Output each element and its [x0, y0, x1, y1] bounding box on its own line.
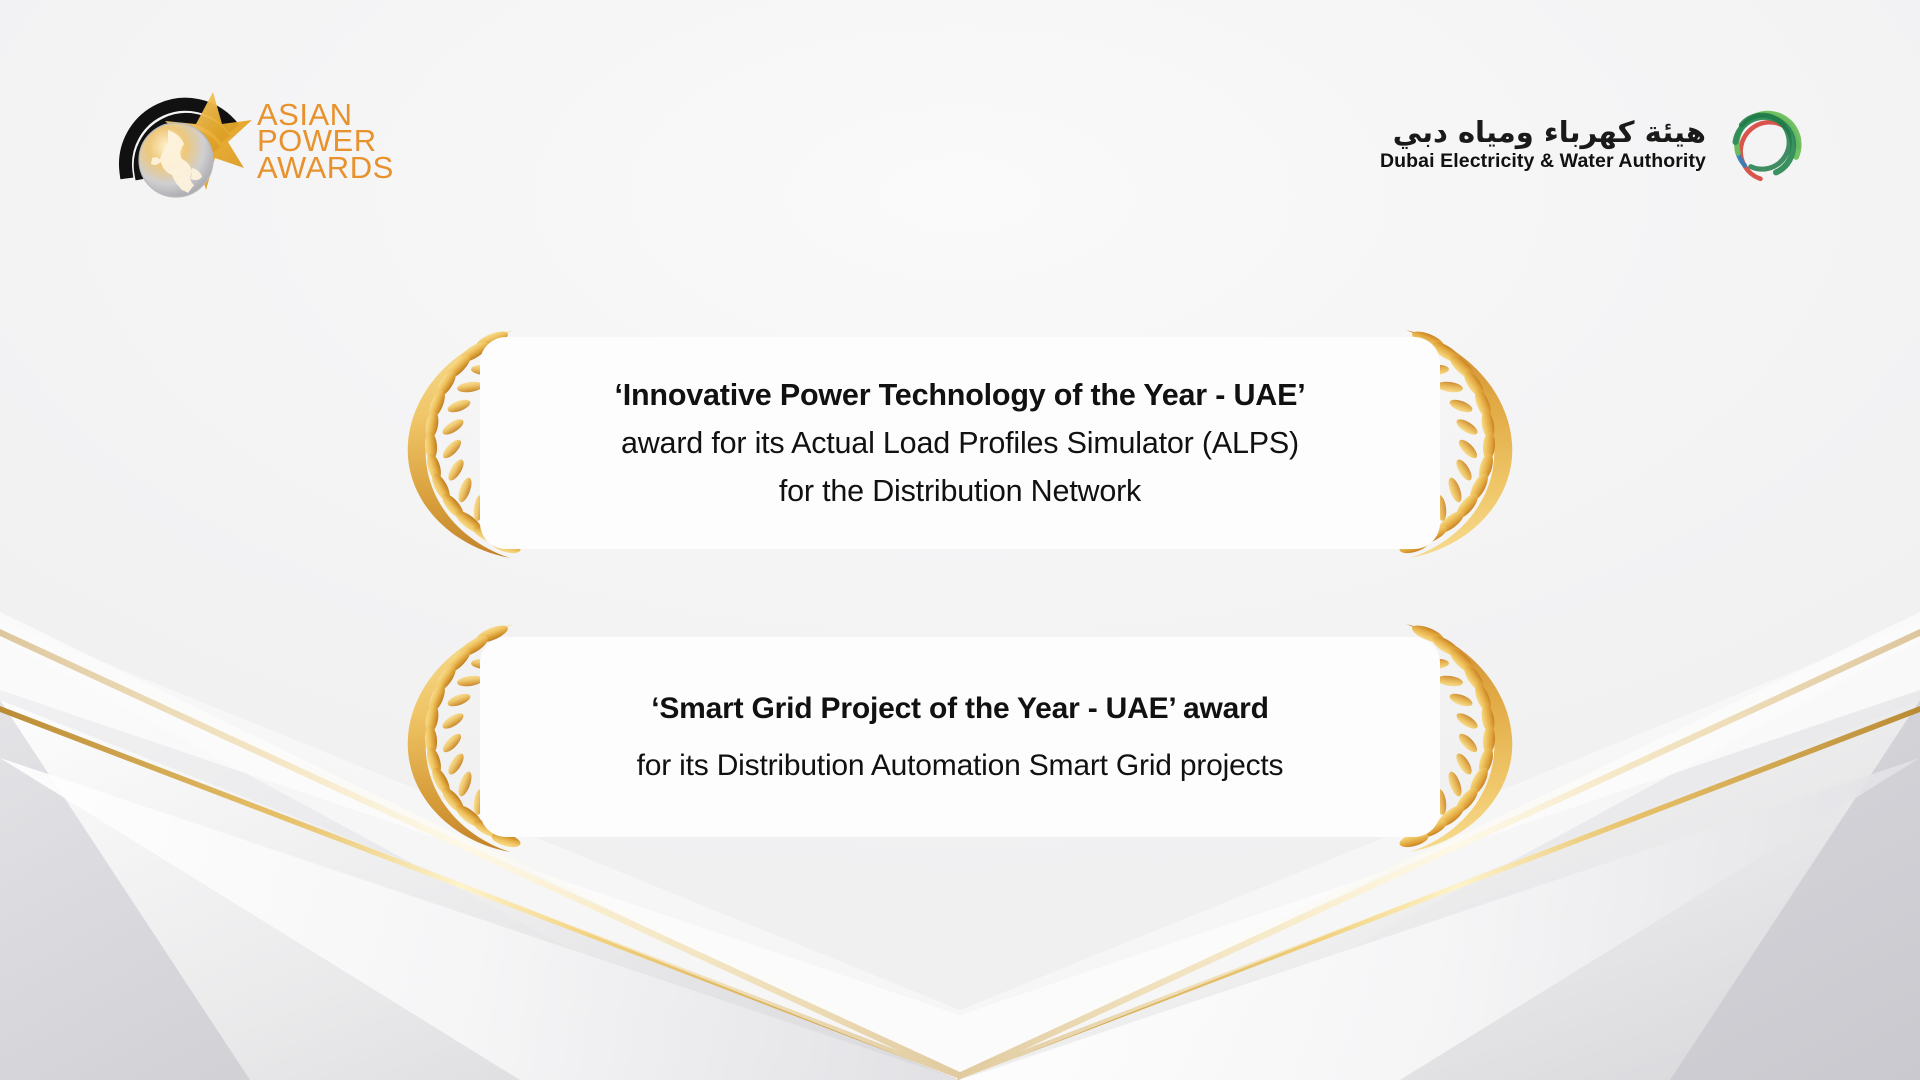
dewa-english-name: Dubai Electricity & Water Authority [1380, 151, 1706, 172]
apa-line-awards: AWARDS [257, 155, 394, 182]
award-announcement-graphic: ASIAN POWER AWARDS هيئة كهرباء ومياه دبي… [0, 0, 1920, 1080]
dewa-logo: هيئة كهرباء ومياه دبي Dubai Electricity … [1380, 100, 1812, 188]
award-2-title: ‘Smart Grid Project of the Year - UAE’ a… [651, 685, 1269, 732]
award-1-line2: award for its Actual Load Profiles Simul… [621, 419, 1299, 467]
award-2-line2: for its Distribution Automation Smart Gr… [637, 742, 1284, 789]
dewa-logo-text: هيئة كهرباء ومياه دبي Dubai Electricity … [1380, 117, 1706, 171]
award-card-1-panel: ‘Innovative Power Technology of the Year… [480, 337, 1440, 550]
award-card-2-panel: ‘Smart Grid Project of the Year - UAE’ a… [480, 637, 1440, 837]
asian-power-awards-logo: ASIAN POWER AWARDS [118, 72, 418, 207]
asian-power-awards-emblem-icon [118, 72, 253, 207]
dewa-ring-mark-icon [1724, 100, 1812, 188]
award-1-line3: for the Distribution Network [779, 467, 1141, 515]
award-1-title: ‘Innovative Power Technology of the Year… [614, 371, 1305, 419]
award-card-1: ‘Innovative Power Technology of the Year… [0, 318, 1920, 568]
asian-power-awards-wordmark: ASIAN POWER AWARDS [257, 98, 394, 182]
award-card-2: ‘Smart Grid Project of the Year - UAE’ a… [0, 612, 1920, 862]
dewa-arabic-name: هيئة كهرباء ومياه دبي [1393, 117, 1706, 148]
